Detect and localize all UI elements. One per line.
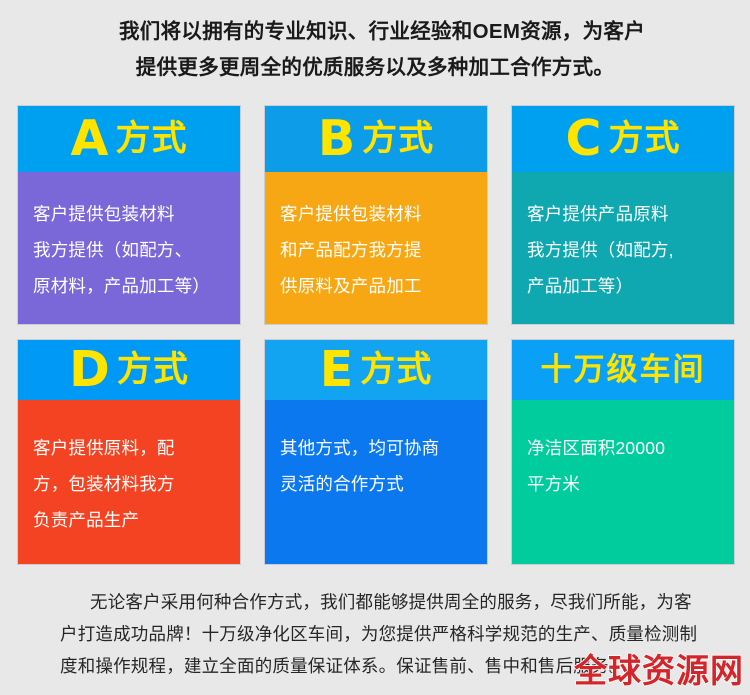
mode-card-body-line: 负责产品生产 bbox=[33, 502, 225, 538]
mode-letter: A bbox=[71, 114, 109, 163]
mode-card-body-line: 平方米 bbox=[527, 466, 719, 502]
mode-card-header: D方式 bbox=[18, 340, 240, 400]
intro-line-2: 提供更多更周全的优质服务以及多种加工合作方式。 bbox=[22, 50, 728, 86]
mode-card-a: A方式客户提供包装材料我方提供（如配方、原材料，产品加工等） bbox=[17, 105, 241, 325]
mode-card-header: B方式 bbox=[265, 106, 487, 172]
mode-card-f: 十万级车间净洁区面积20000平方米 bbox=[511, 339, 735, 565]
mode-card-e: E方式其他方式，均可协商灵活的合作方式 bbox=[264, 339, 488, 565]
mode-card-body-line: 供原料及产品加工 bbox=[280, 268, 472, 304]
mode-card-body-line: 方，包装材料我方 bbox=[33, 466, 225, 502]
intro-line-1: 我们将以拥有的专业知识、行业经验和OEM资源，为客户 bbox=[22, 14, 728, 50]
mode-header-label: 十万级车间 bbox=[541, 350, 706, 390]
mode-card-body: 客户提供包装材料和产品配方我方提供原料及产品加工 bbox=[265, 172, 487, 324]
mode-header-label: 方式 bbox=[117, 350, 189, 390]
mode-card-body: 客户提供原料，配方，包装材料我方负责产品生产 bbox=[18, 400, 240, 564]
mode-header-label: 方式 bbox=[115, 119, 187, 159]
mode-letter: C bbox=[566, 114, 602, 163]
mode-letter: E bbox=[320, 345, 353, 394]
mode-card-header: E方式 bbox=[265, 340, 487, 400]
mode-card-body: 其他方式，均可协商灵活的合作方式 bbox=[265, 400, 487, 564]
mode-card-body: 客户提供产品原料我方提供（如配方,产品加工等） bbox=[512, 172, 734, 324]
promo-page: 我们将以拥有的专业知识、行业经验和OEM资源，为客户 提供更多更周全的优质服务以… bbox=[0, 0, 750, 695]
mode-card-body-line: 客户提供包装材料 bbox=[280, 196, 472, 232]
mode-card-header: A方式 bbox=[18, 106, 240, 172]
mode-card-body-line: 我方提供（如配方, bbox=[527, 232, 719, 268]
mode-card-header: C方式 bbox=[512, 106, 734, 172]
mode-card-header: 十万级车间 bbox=[512, 340, 734, 400]
mode-header-label: 方式 bbox=[608, 119, 680, 159]
mode-card-body-line: 产品加工等） bbox=[527, 268, 719, 304]
mode-card-body-line: 净洁区面积20000 bbox=[527, 430, 719, 466]
mode-card-d: D方式客户提供原料，配方，包装材料我方负责产品生产 bbox=[17, 339, 241, 565]
mode-letter: B bbox=[318, 114, 355, 163]
mode-card-body: 客户提供包装材料我方提供（如配方、原材料，产品加工等） bbox=[18, 172, 240, 324]
mode-card-c: C方式客户提供产品原料我方提供（如配方,产品加工等） bbox=[511, 105, 735, 325]
outro-line-1: 无论客户采用何种合作方式，我们都能够提供周全的服务，尽我们所能，为客 bbox=[60, 586, 690, 618]
mode-card-body-line: 其他方式，均可协商 bbox=[280, 430, 472, 466]
outro-line-2: 户打造成功品牌！十万级净化区车间，为您提供严格科学规范的生产、质量检测制 bbox=[60, 618, 690, 650]
mode-card-body-line: 客户提供包装材料 bbox=[33, 196, 225, 232]
intro-paragraph: 我们将以拥有的专业知识、行业经验和OEM资源，为客户 提供更多更周全的优质服务以… bbox=[0, 14, 750, 86]
mode-letter: D bbox=[69, 345, 110, 394]
cooperation-mode-grid: A方式客户提供包装材料我方提供（如配方、原材料，产品加工等）B方式客户提供包装材… bbox=[17, 105, 735, 565]
mode-card-body-line: 客户提供原料，配 bbox=[33, 430, 225, 466]
mode-header-label: 方式 bbox=[360, 350, 432, 390]
mode-card-body-line: 原材料，产品加工等） bbox=[33, 268, 225, 304]
site-watermark: 全球资源网 bbox=[574, 653, 744, 689]
mode-header-label: 方式 bbox=[362, 119, 434, 159]
mode-card-body: 净洁区面积20000平方米 bbox=[512, 400, 734, 564]
mode-card-body-line: 和产品配方我方提 bbox=[280, 232, 472, 268]
mode-card-body-line: 灵活的合作方式 bbox=[280, 466, 472, 502]
mode-card-body-line: 我方提供（如配方、 bbox=[33, 232, 225, 268]
mode-card-b: B方式客户提供包装材料和产品配方我方提供原料及产品加工 bbox=[264, 105, 488, 325]
mode-card-body-line: 客户提供产品原料 bbox=[527, 196, 719, 232]
